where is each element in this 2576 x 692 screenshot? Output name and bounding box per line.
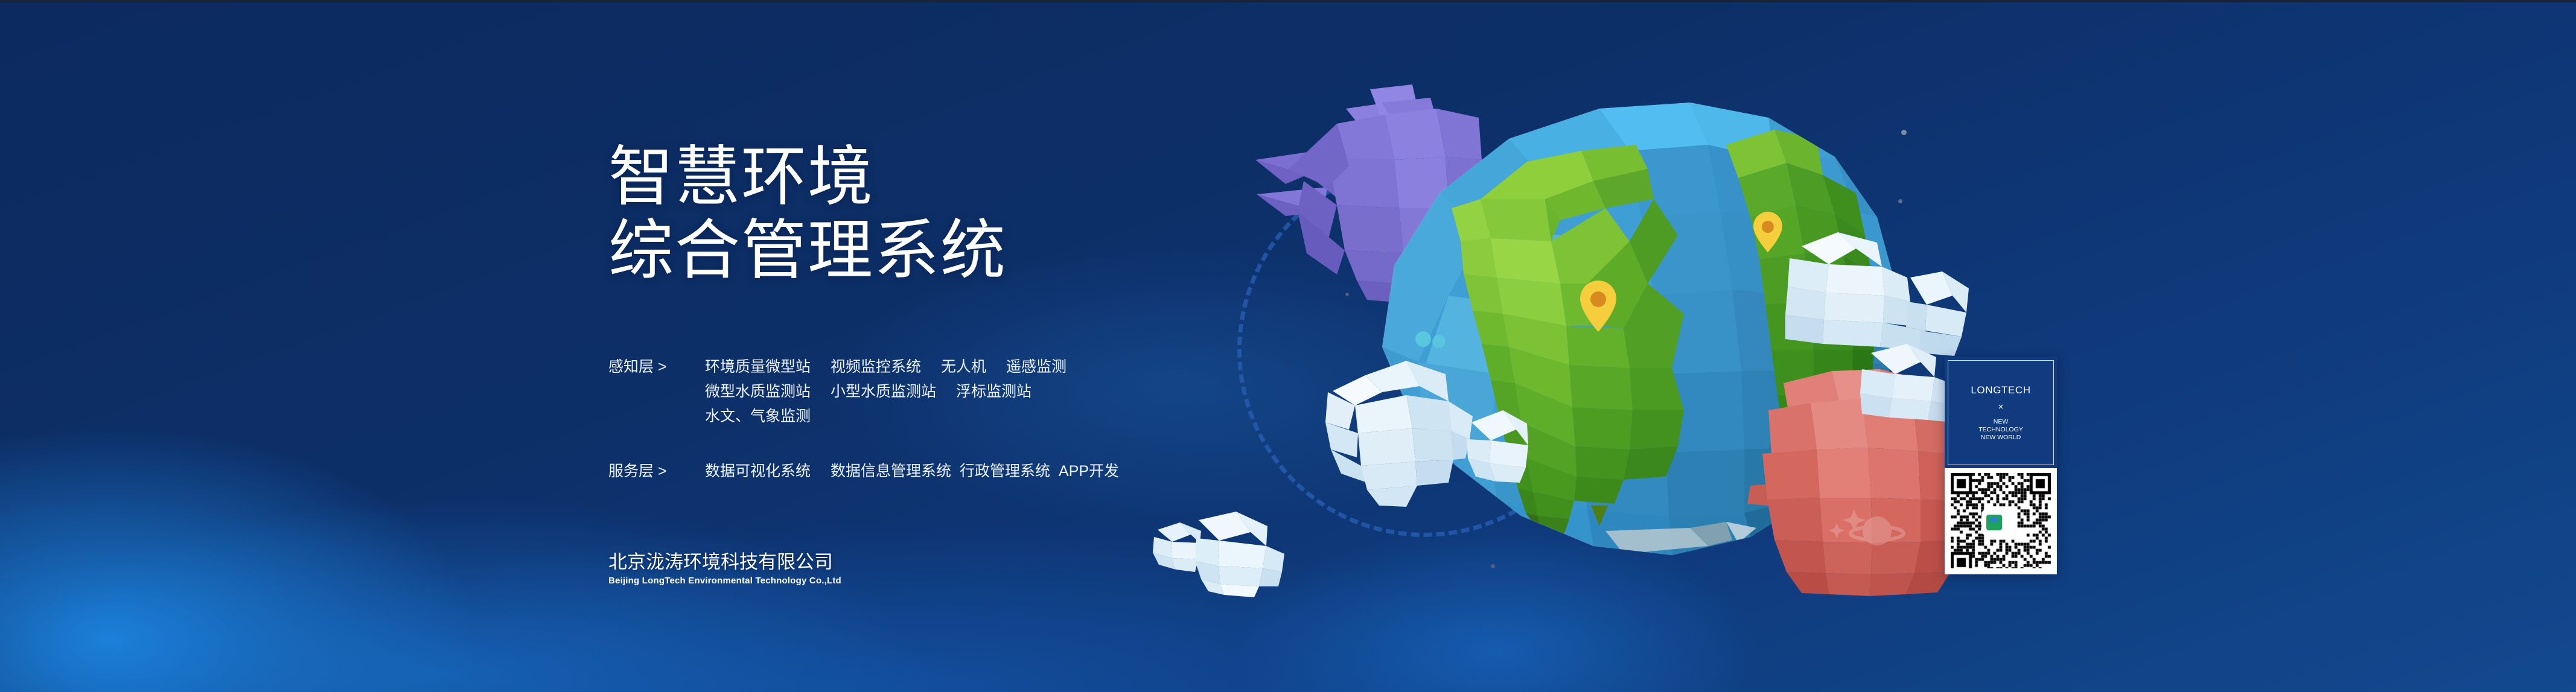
tagline: NEW TECHNOLOGY NEW WORLD xyxy=(1978,418,2023,442)
feature-item[interactable]: 小型水质监测站 xyxy=(831,379,936,404)
qr-card-header: LONGTECH × NEW TECHNOLOGY NEW WORLD xyxy=(1945,357,2057,468)
layer-row-service: 服务层 > 数据可视化系统 数据信息管理系统 行政管理系统 APP开发 xyxy=(608,459,1119,484)
space-illustration xyxy=(0,0,2576,692)
banner-root: 智慧环境 综合管理系统 感知层 > 环境质量微型站 视频监控系统 无人机 遥感监… xyxy=(0,0,2576,692)
feature-item[interactable]: 无人机 xyxy=(941,355,986,379)
item-line: 数据可视化系统 数据信息管理系统 行政管理系统 APP开发 xyxy=(705,459,1119,484)
cross-icon: × xyxy=(1998,399,2004,415)
row-spacer xyxy=(608,429,1119,459)
brand-name: LONGTECH xyxy=(1971,384,2030,397)
item-line: 水文、气象监测 xyxy=(705,404,1066,429)
feature-item[interactable]: 数据可视化系统 xyxy=(705,459,811,484)
top-border xyxy=(0,0,2576,2)
tagline-line-1: NEW xyxy=(1978,418,2023,426)
layer-items: 环境质量微型站 视频监控系统 无人机 遥感监测 微型水质监测站 小型水质监测站 … xyxy=(705,355,1066,429)
feature-item[interactable]: 数据信息管理系统 xyxy=(831,459,951,484)
company-name-en: Beijing LongTech Environmental Technolog… xyxy=(608,574,841,588)
cloud-icon xyxy=(1153,512,1284,597)
page-title: 智慧环境 综合管理系统 xyxy=(608,140,1007,287)
tagline-line-2: TECHNOLOGY xyxy=(1978,426,2023,434)
feature-item[interactable]: 微型水质监测站 xyxy=(705,379,811,404)
title-line-1: 智慧环境 xyxy=(608,140,1007,214)
layer-items: 数据可视化系统 数据信息管理系统 行政管理系统 APP开发 xyxy=(705,459,1119,484)
tagline-line-3: NEW WORLD xyxy=(1978,434,2023,442)
feature-item[interactable]: 水文、气象监测 xyxy=(705,404,811,429)
feature-item[interactable]: 视频监控系统 xyxy=(831,355,921,379)
feature-item[interactable]: 环境质量微型站 xyxy=(705,355,811,379)
item-line: 环境质量微型站 视频监控系统 无人机 遥感监测 xyxy=(705,355,1066,379)
feature-item[interactable]: 浮标监测站 xyxy=(956,379,1031,404)
title-line-2: 综合管理系统 xyxy=(608,214,1007,287)
sensor-dot xyxy=(1415,331,1431,347)
feature-item[interactable]: APP开发 xyxy=(1059,459,1119,484)
qr-promo-card[interactable]: LONGTECH × NEW TECHNOLOGY NEW WORLD xyxy=(1945,357,2057,574)
item-line: 微型水质监测站 小型水质监测站 浮标监测站 xyxy=(705,379,1066,404)
feature-item[interactable]: 遥感监测 xyxy=(1006,355,1066,379)
layer-row-perception: 感知层 > 环境质量微型站 视频监控系统 无人机 遥感监测 微型水质监测站 小型… xyxy=(608,355,1119,429)
layer-list: 感知层 > 环境质量微型站 视频监控系统 无人机 遥感监测 微型水质监测站 小型… xyxy=(608,355,1119,484)
layer-label: 感知层 > xyxy=(608,355,705,379)
sensor-dot xyxy=(1432,335,1446,348)
feature-item[interactable]: 行政管理系统 xyxy=(960,459,1050,484)
qr-logo-icon xyxy=(1981,510,2007,535)
company-name-cn: 北京泷涛环境科技有限公司 xyxy=(608,550,841,574)
layer-label: 服务层 > xyxy=(608,459,705,484)
company-signature: 北京泷涛环境科技有限公司 Beijing LongTech Environmen… xyxy=(608,550,841,588)
